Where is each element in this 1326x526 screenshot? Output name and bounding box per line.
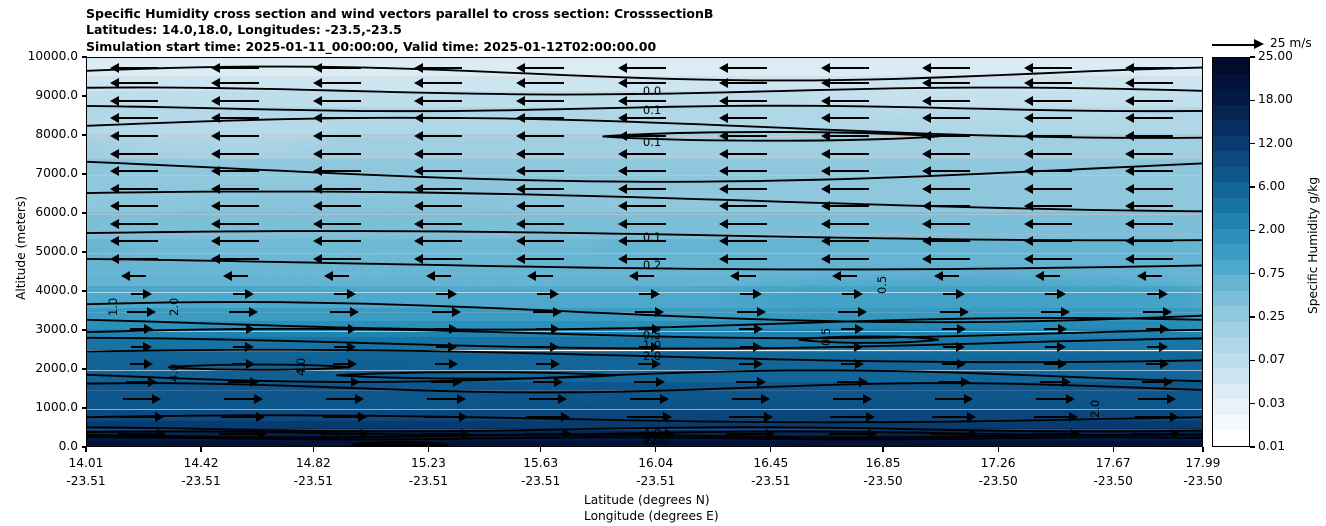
wind-arrowhead-icon bbox=[821, 254, 830, 264]
wind-vector-arrow bbox=[118, 135, 158, 137]
wind-vector-arrow bbox=[333, 363, 348, 365]
wind-arrowhead-icon bbox=[1125, 184, 1134, 194]
wind-vector-arrow bbox=[524, 205, 564, 207]
wind-arrowhead-icon bbox=[922, 149, 931, 159]
closed-contour-loop bbox=[336, 372, 616, 378]
wind-arrowhead-icon bbox=[1062, 377, 1071, 387]
wind-vector-arrow bbox=[935, 398, 966, 400]
wind-arrowhead-icon bbox=[324, 271, 333, 281]
contour-label: 4.0 bbox=[168, 364, 180, 382]
wind-arrowhead-icon bbox=[516, 201, 525, 211]
wind-vector-arrow bbox=[422, 240, 462, 242]
wind-key-arrowhead-icon bbox=[1254, 39, 1264, 49]
wind-vector-arrow bbox=[842, 293, 855, 295]
wind-vector-arrow bbox=[1032, 67, 1072, 69]
wind-arrowhead-icon bbox=[313, 184, 322, 194]
wind-vector-arrow bbox=[118, 240, 158, 242]
wind-arrowhead-icon bbox=[351, 377, 360, 387]
wind-vector-arrow bbox=[524, 100, 564, 102]
x-tick-label-latitude: 17.67 bbox=[1068, 456, 1158, 470]
wind-vector-arrow bbox=[1133, 188, 1173, 190]
wind-arrowhead-icon bbox=[1024, 236, 1033, 246]
wind-vector-arrow bbox=[533, 311, 554, 313]
wind-key-label: 25 m/s bbox=[1270, 36, 1312, 50]
wind-vector-arrow bbox=[930, 117, 970, 119]
wind-arrowhead-icon bbox=[1069, 412, 1078, 422]
wind-arrowhead-icon bbox=[922, 78, 931, 88]
x-tick-label-latitude: 14.42 bbox=[156, 456, 246, 470]
colorbar-tick-label: 0.75 bbox=[1258, 266, 1285, 280]
wind-arrowhead-icon bbox=[348, 359, 357, 369]
wind-arrowhead-icon bbox=[1035, 271, 1044, 281]
wind-arrowhead-icon bbox=[551, 324, 560, 334]
x-tick-mark bbox=[655, 447, 656, 452]
wind-arrowhead-icon bbox=[1125, 131, 1134, 141]
wind-arrowhead-icon bbox=[110, 184, 119, 194]
x-tick-label-latitude: 15.23 bbox=[383, 456, 473, 470]
wind-arrowhead-icon bbox=[449, 359, 458, 369]
wind-arrowhead-icon bbox=[821, 219, 830, 229]
wind-arrowhead-icon bbox=[821, 78, 830, 88]
wind-vector-arrow bbox=[736, 381, 759, 383]
x-tick-label-longitude: -23.51 bbox=[496, 474, 586, 488]
title-line-3: Simulation start time: 2025-01-11_00:00:… bbox=[86, 39, 713, 55]
wind-vector-arrow bbox=[123, 398, 154, 400]
wind-vector-arrow bbox=[639, 293, 652, 295]
wind-arrowhead-icon bbox=[254, 394, 263, 404]
wind-vector-arrow bbox=[829, 433, 869, 435]
wind-arrowhead-icon bbox=[453, 377, 462, 387]
x-tick-label-latitude: 14.01 bbox=[41, 456, 131, 470]
wind-arrowhead-icon bbox=[110, 78, 119, 88]
y-tick-label: 7000.0 bbox=[0, 166, 78, 180]
wind-vector-arrow bbox=[537, 346, 550, 348]
colorbar-segment bbox=[1213, 415, 1249, 431]
wind-arrowhead-icon bbox=[1172, 429, 1181, 439]
wind-vector-arrow bbox=[1145, 275, 1162, 277]
wind-vector-arrow bbox=[837, 381, 860, 383]
wind-vector-arrow bbox=[727, 205, 767, 207]
contour-label: 0.1 bbox=[643, 104, 661, 116]
wind-vector-arrow bbox=[627, 416, 663, 418]
x-tick-label-longitude: -23.51 bbox=[156, 474, 246, 488]
wind-arrowhead-icon bbox=[516, 96, 525, 106]
wind-vector-arrow bbox=[524, 240, 564, 242]
wind-vector-arrow bbox=[829, 100, 869, 102]
wind-arrowhead-icon bbox=[821, 131, 830, 141]
wind-vector-arrow bbox=[422, 82, 462, 84]
contour-label: 2.0 bbox=[1089, 400, 1101, 418]
wind-arrowhead-icon bbox=[821, 63, 830, 73]
wind-vector-arrow bbox=[130, 363, 145, 365]
contour-label: 0.1 bbox=[643, 231, 661, 243]
wind-arrowhead-icon bbox=[618, 254, 627, 264]
wind-arrowhead-icon bbox=[563, 429, 572, 439]
wind-arrowhead-icon bbox=[618, 78, 627, 88]
wind-key-arrow-icon bbox=[1212, 44, 1256, 46]
wind-arrowhead-icon bbox=[516, 113, 525, 123]
wind-arrowhead-icon bbox=[110, 219, 119, 229]
wind-vector-arrow bbox=[738, 275, 755, 277]
wind-arrowhead-icon bbox=[922, 236, 931, 246]
wind-vector-arrow bbox=[841, 363, 856, 365]
wind-arrowhead-icon bbox=[554, 377, 563, 387]
colorbar-segment bbox=[1213, 182, 1249, 198]
wind-vector-arrow bbox=[727, 82, 767, 84]
colorbar[interactable] bbox=[1212, 57, 1250, 447]
wind-vector-arrow bbox=[334, 293, 347, 295]
colorbar-segment bbox=[1213, 353, 1249, 369]
wind-arrowhead-icon bbox=[719, 219, 728, 229]
wind-vector-arrow bbox=[727, 258, 767, 260]
wind-arrowhead-icon bbox=[719, 78, 728, 88]
y-tick-label: 10000.0 bbox=[0, 49, 78, 63]
wind-vector-arrow bbox=[427, 398, 458, 400]
x-tick-label-longitude: -23.50 bbox=[838, 474, 928, 488]
wind-arrowhead-icon bbox=[960, 307, 969, 317]
wind-arrowhead-icon bbox=[516, 254, 525, 264]
wind-arrowhead-icon bbox=[922, 96, 931, 106]
wind-arrowhead-icon bbox=[558, 394, 567, 404]
y-tick-label: 4000.0 bbox=[0, 283, 78, 297]
wind-vector-arrow bbox=[930, 240, 970, 242]
wind-arrowhead-icon bbox=[110, 113, 119, 123]
wind-arrowhead-icon bbox=[618, 219, 627, 229]
wind-vector-arrow bbox=[321, 223, 361, 225]
wind-vector-arrow bbox=[1147, 346, 1160, 348]
wind-vector-arrow bbox=[930, 67, 970, 69]
x-tick-mark bbox=[428, 447, 429, 452]
wind-vector-arrow bbox=[940, 311, 961, 313]
colorbar-tick-mark bbox=[1250, 56, 1255, 57]
wind-vector-arrow bbox=[221, 416, 257, 418]
wind-vector-arrow bbox=[219, 170, 259, 172]
wind-arrowhead-icon bbox=[1159, 289, 1168, 299]
colorbar-tick-mark bbox=[1250, 230, 1255, 231]
wind-vector-arrow bbox=[1032, 205, 1072, 207]
wind-vector-arrow bbox=[524, 153, 564, 155]
wind-vector-arrow bbox=[1133, 433, 1173, 435]
wind-vector-arrow bbox=[232, 328, 247, 330]
wind-arrowhead-icon bbox=[854, 289, 863, 299]
wind-arrowhead-icon bbox=[211, 78, 220, 88]
wind-arrowhead-icon bbox=[922, 113, 931, 123]
colorbar-segment bbox=[1213, 58, 1249, 74]
wind-vector-arrow bbox=[727, 117, 767, 119]
wind-arrowhead-icon bbox=[1024, 149, 1033, 159]
colorbar-segment bbox=[1213, 260, 1249, 276]
wind-arrowhead-icon bbox=[1125, 236, 1134, 246]
wind-vector-arrow bbox=[524, 223, 564, 225]
wind-arrowhead-icon bbox=[551, 359, 560, 369]
colorbar-segment bbox=[1213, 167, 1249, 183]
wind-arrowhead-icon bbox=[719, 63, 728, 73]
wind-vector-arrow bbox=[1044, 328, 1059, 330]
wind-vector-arrow bbox=[930, 205, 970, 207]
x-axis-label-latitude: Latitude (degrees N) bbox=[584, 493, 710, 507]
wind-arrowhead-icon bbox=[211, 113, 220, 123]
wind-vector-arrow bbox=[930, 258, 970, 260]
wind-arrowhead-icon bbox=[855, 324, 864, 334]
wind-arrowhead-icon bbox=[211, 166, 220, 176]
wind-arrowhead-icon bbox=[144, 324, 153, 334]
wind-vector-arrow bbox=[1032, 433, 1072, 435]
wind-vector-arrow bbox=[334, 346, 347, 348]
colorbar-tick-mark bbox=[1250, 273, 1255, 274]
x-tick-mark bbox=[200, 447, 201, 452]
wind-vector-arrow bbox=[830, 416, 866, 418]
wind-vector-arrow bbox=[930, 170, 970, 172]
x-tick-label-latitude: 17.26 bbox=[953, 456, 1043, 470]
wind-arrowhead-icon bbox=[1024, 63, 1033, 73]
wind-arrowhead-icon bbox=[922, 131, 931, 141]
x-tick-label-longitude: -23.51 bbox=[726, 474, 816, 488]
wind-arrowhead-icon bbox=[766, 429, 775, 439]
wind-arrowhead-icon bbox=[1125, 166, 1134, 176]
wind-vector-arrow bbox=[219, 117, 259, 119]
wind-vector-arrow bbox=[829, 223, 869, 225]
wind-vector-arrow bbox=[321, 100, 361, 102]
colorbar-tick-label: 0.07 bbox=[1258, 352, 1285, 366]
wind-vector-arrow bbox=[829, 240, 869, 242]
wind-vector-arrow bbox=[1045, 346, 1058, 348]
x-tick-label-latitude: 16.04 bbox=[611, 456, 701, 470]
wind-arrowhead-icon bbox=[863, 394, 872, 404]
wind-vector-arrow bbox=[1146, 328, 1161, 330]
contour-label: 0.2 bbox=[643, 259, 661, 271]
wind-vector-arrow bbox=[942, 275, 959, 277]
wind-vector-arrow bbox=[233, 346, 246, 348]
wind-vector-arrow bbox=[131, 293, 144, 295]
wind-arrowhead-icon bbox=[764, 412, 773, 422]
wind-arrowhead-icon bbox=[821, 201, 830, 211]
colorbar-segment bbox=[1213, 198, 1249, 214]
wind-vector-arrow bbox=[930, 188, 970, 190]
wind-arrowhead-icon bbox=[516, 219, 525, 229]
colorbar-tick-label: 18.00 bbox=[1258, 92, 1293, 106]
wind-vector-arrow bbox=[1133, 117, 1173, 119]
wind-vector-arrow bbox=[118, 117, 158, 119]
y-tick-label: 2000.0 bbox=[0, 361, 78, 375]
wind-vector-arrow bbox=[840, 275, 857, 277]
wind-arrowhead-icon bbox=[147, 307, 156, 317]
wind-arrowhead-icon bbox=[211, 219, 220, 229]
wind-vector-arrow bbox=[942, 328, 957, 330]
wind-arrowhead-icon bbox=[256, 412, 265, 422]
wind-arrowhead-icon bbox=[348, 324, 357, 334]
wind-arrowhead-icon bbox=[516, 236, 525, 246]
wind-arrowhead-icon bbox=[922, 184, 931, 194]
wind-arrowhead-icon bbox=[258, 429, 267, 439]
wind-arrowhead-icon bbox=[360, 429, 369, 439]
wind-vector-arrow bbox=[1032, 223, 1072, 225]
wind-arrowhead-icon bbox=[719, 113, 728, 123]
wind-vector-arrow bbox=[118, 188, 158, 190]
wind-vector-arrow bbox=[727, 433, 767, 435]
wind-arrowhead-icon bbox=[922, 63, 931, 73]
wind-arrowhead-icon bbox=[618, 166, 627, 176]
wind-arrowhead-icon bbox=[1071, 429, 1080, 439]
wind-vector-arrow bbox=[829, 205, 869, 207]
wind-vector-arrow bbox=[829, 170, 869, 172]
x-tick-mark bbox=[85, 447, 86, 452]
wind-arrowhead-icon bbox=[414, 96, 423, 106]
wind-vector-arrow bbox=[224, 398, 255, 400]
colorbar-segment bbox=[1213, 291, 1249, 307]
y-tick-label: 3000.0 bbox=[0, 322, 78, 336]
wind-arrowhead-icon bbox=[211, 149, 220, 159]
wind-vector-arrow bbox=[219, 433, 259, 435]
wind-arrowhead-icon bbox=[866, 412, 875, 422]
colorbar-tick-label: 0.03 bbox=[1258, 396, 1285, 410]
wind-arrowhead-icon bbox=[956, 289, 965, 299]
wind-vector-arrow bbox=[321, 135, 361, 137]
wind-arrowhead-icon bbox=[961, 377, 970, 387]
wind-arrowhead-icon bbox=[821, 113, 830, 123]
wind-vector-arrow bbox=[524, 258, 564, 260]
wind-arrowhead-icon bbox=[516, 149, 525, 159]
wind-vector-arrow bbox=[422, 170, 462, 172]
wind-vector-arrow bbox=[422, 153, 462, 155]
wind-arrowhead-icon bbox=[414, 78, 423, 88]
wind-arrowhead-icon bbox=[313, 219, 322, 229]
wind-arrowhead-icon bbox=[821, 166, 830, 176]
wind-vector-arrow bbox=[1133, 240, 1173, 242]
wind-arrowhead-icon bbox=[144, 359, 153, 369]
wind-vector-arrow bbox=[1032, 135, 1072, 137]
y-tick-mark bbox=[82, 56, 87, 57]
wind-arrowhead-icon bbox=[1057, 289, 1066, 299]
wind-vector-arrow bbox=[422, 117, 462, 119]
wind-arrowhead-icon bbox=[249, 307, 258, 317]
wind-arrowhead-icon bbox=[618, 96, 627, 106]
y-tick-mark bbox=[82, 134, 87, 135]
wind-vector-arrow bbox=[829, 258, 869, 260]
contour-label: 12.0 bbox=[643, 434, 669, 446]
wind-vector-arrow bbox=[321, 117, 361, 119]
wind-vector-arrow bbox=[1135, 416, 1171, 418]
wind-arrowhead-icon bbox=[855, 359, 864, 369]
wind-arrowhead-icon bbox=[350, 307, 359, 317]
wind-arrowhead-icon bbox=[1024, 166, 1033, 176]
wind-arrowhead-icon bbox=[854, 342, 863, 352]
wind-arrowhead-icon bbox=[1125, 96, 1134, 106]
x-tick-label-longitude: -23.50 bbox=[953, 474, 1043, 488]
wind-vector-arrow bbox=[727, 135, 767, 137]
wind-arrowhead-icon bbox=[821, 96, 830, 106]
wind-arrowhead-icon bbox=[110, 166, 119, 176]
wind-arrowhead-icon bbox=[719, 254, 728, 264]
wind-arrowhead-icon bbox=[110, 236, 119, 246]
wind-vector-arrow bbox=[1032, 258, 1072, 260]
wind-vector-arrow bbox=[422, 135, 462, 137]
wind-arrowhead-icon bbox=[313, 63, 322, 73]
wind-vector-arrow bbox=[943, 346, 956, 348]
wind-vector-arrow bbox=[829, 135, 869, 137]
wind-vector-arrow bbox=[422, 258, 462, 260]
wind-arrowhead-icon bbox=[618, 149, 627, 159]
wind-vector-arrow bbox=[930, 100, 970, 102]
wind-vector-arrow bbox=[829, 67, 869, 69]
wind-arrowhead-icon bbox=[246, 359, 255, 369]
wind-arrowhead-icon bbox=[461, 429, 470, 439]
wind-arrowhead-icon bbox=[110, 149, 119, 159]
wind-vector-arrow bbox=[422, 223, 462, 225]
wind-arrowhead-icon bbox=[414, 113, 423, 123]
wind-vector-arrow bbox=[431, 381, 454, 383]
wind-vector-arrow bbox=[1040, 381, 1063, 383]
contour-label: 0.5 bbox=[820, 328, 832, 346]
wind-arrowhead-icon bbox=[1058, 359, 1067, 369]
x-tick-label-latitude: 15.63 bbox=[496, 456, 586, 470]
wind-arrowhead-icon bbox=[148, 377, 157, 387]
wind-arrowhead-icon bbox=[964, 394, 973, 404]
wind-vector-arrow bbox=[1032, 170, 1072, 172]
y-tick-mark bbox=[82, 290, 87, 291]
colorbar-segment bbox=[1213, 89, 1249, 105]
x-tick-mark bbox=[770, 447, 771, 452]
wind-vector-arrow bbox=[626, 223, 666, 225]
x-tick-mark bbox=[313, 447, 314, 452]
wind-arrowhead-icon bbox=[516, 78, 525, 88]
wind-arrowhead-icon bbox=[922, 254, 931, 264]
wind-arrowhead-icon bbox=[1024, 184, 1033, 194]
wind-arrowhead-icon bbox=[754, 324, 763, 334]
wind-vector-arrow bbox=[1133, 100, 1173, 102]
y-tick-label: 9000.0 bbox=[0, 88, 78, 102]
wind-vector-arrow bbox=[321, 240, 361, 242]
wind-vector-arrow bbox=[930, 135, 970, 137]
wind-vector-arrow bbox=[942, 363, 957, 365]
wind-arrowhead-icon bbox=[347, 289, 356, 299]
wind-vector-arrow bbox=[637, 275, 654, 277]
colorbar-segment bbox=[1213, 105, 1249, 121]
wind-arrowhead-icon bbox=[143, 289, 152, 299]
wind-arrowhead-icon bbox=[1024, 131, 1033, 141]
wind-vector-arrow bbox=[321, 67, 361, 69]
wind-vector-arrow bbox=[833, 398, 864, 400]
wind-vector-arrow bbox=[436, 346, 449, 348]
wind-arrowhead-icon bbox=[452, 307, 461, 317]
wind-vector-arrow bbox=[219, 82, 259, 84]
x-tick-mark bbox=[1113, 447, 1114, 452]
wind-vector-arrow bbox=[829, 117, 869, 119]
wind-vector-arrow bbox=[232, 363, 247, 365]
wind-vector-arrow bbox=[330, 311, 351, 313]
wind-vector-arrow bbox=[638, 363, 653, 365]
wind-vector-arrow bbox=[219, 153, 259, 155]
wind-arrowhead-icon bbox=[1066, 394, 1075, 404]
cross-section-plot[interactable]: 0.00.10.10.10.20.51.02.04.08.012.01.02.0… bbox=[86, 57, 1203, 447]
contour-label: 0.0 bbox=[643, 85, 661, 97]
wind-vector-arrow bbox=[332, 275, 349, 277]
wind-vector-arrow bbox=[434, 275, 451, 277]
wind-vector-arrow bbox=[118, 258, 158, 260]
y-tick-label: 5000.0 bbox=[0, 244, 78, 258]
wind-arrowhead-icon bbox=[719, 149, 728, 159]
wind-vector-arrow bbox=[1133, 67, 1173, 69]
title-line-1: Specific Humidity cross section and wind… bbox=[86, 6, 713, 22]
wind-arrowhead-icon bbox=[414, 236, 423, 246]
wind-vector-arrow bbox=[524, 117, 564, 119]
wind-arrowhead-icon bbox=[313, 113, 322, 123]
wind-vector-arrow bbox=[422, 100, 462, 102]
wind-arrowhead-icon bbox=[516, 166, 525, 176]
wind-arrowhead-icon bbox=[313, 236, 322, 246]
wind-arrowhead-icon bbox=[618, 201, 627, 211]
wind-vector-arrow bbox=[1142, 381, 1165, 383]
y-tick-label: 1000.0 bbox=[0, 400, 78, 414]
